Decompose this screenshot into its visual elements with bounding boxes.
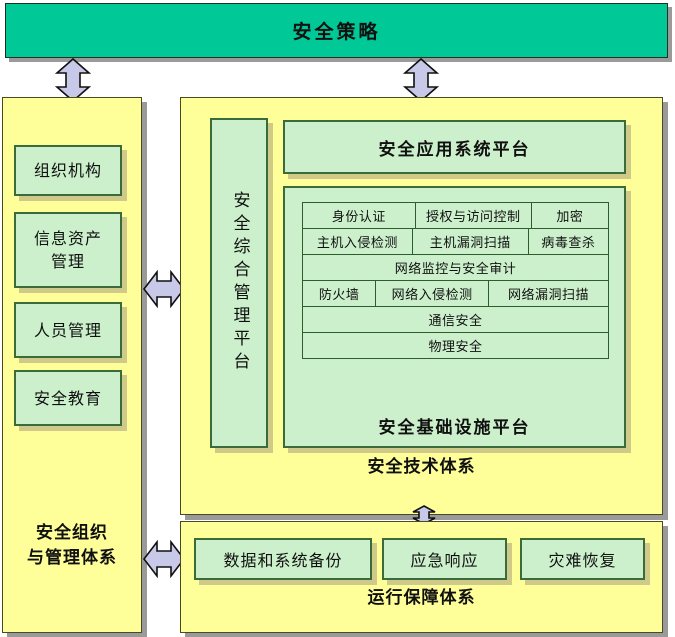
box-information-asset-management-label: 信息资产管理 [34, 227, 102, 273]
infrastructure-capability-grid: 身份认证授权与访问控制加密主机入侵检测主机漏洞扫描病毒查杀网络监控与安全审计防火… [302, 202, 609, 359]
infrastructure-platform-label: 安全基础设施平台 [285, 413, 624, 438]
capability-cell[interactable]: 授权与访问控制 [416, 203, 532, 228]
box-emergency-response-label: 应急响应 [410, 547, 478, 571]
policy-to-technology-arrow [403, 58, 439, 102]
security-policy-banner: 安全策略 [5, 3, 668, 58]
box-integrated-security-management-platform[interactable]: 安全综合管理平台 [210, 118, 268, 448]
capability-row: 网络监控与安全审计 [303, 255, 608, 281]
capability-row: 身份认证授权与访问控制加密 [303, 203, 608, 229]
capability-cell[interactable]: 主机入侵检测 [303, 229, 413, 254]
capability-row: 主机入侵检测主机漏洞扫描病毒查杀 [303, 229, 608, 255]
box-data-system-backup-label: 数据和系统备份 [223, 547, 342, 571]
capability-cell[interactable]: 网络漏洞扫描 [489, 281, 608, 306]
box-data-system-backup[interactable]: 数据和系统备份 [194, 538, 372, 580]
box-personnel-management[interactable]: 人员管理 [14, 302, 122, 358]
capability-cell[interactable]: 网络监控与安全审计 [303, 255, 608, 280]
capability-cell[interactable]: 物理安全 [303, 333, 608, 358]
policy-to-organization-arrow [55, 58, 91, 102]
application-platform-label: 安全应用系统平台 [379, 135, 531, 160]
capability-row: 防火墙网络入侵检测网络漏洞扫描 [303, 281, 608, 307]
capability-cell[interactable]: 防火墙 [303, 281, 376, 306]
box-personnel-management-label: 人员管理 [34, 319, 102, 342]
integrated-platform-label: 安全综合管理平台 [231, 191, 248, 375]
box-security-education[interactable]: 安全教育 [14, 370, 122, 426]
operations-assurance-panel-title: 运行保障体系 [180, 586, 663, 611]
left-title-line1: 安全组织 [36, 523, 108, 543]
box-disaster-recovery-label: 灾难恢复 [548, 547, 616, 571]
security-technology-panel-title: 安全技术体系 [180, 455, 663, 480]
box-information-asset-management[interactable]: 信息资产管理 [14, 212, 122, 288]
capability-row: 物理安全 [303, 333, 608, 358]
capability-cell[interactable]: 网络入侵检测 [376, 281, 489, 306]
box-security-infrastructure-platform[interactable]: 身份认证授权与访问控制加密主机入侵检测主机漏洞扫描病毒查杀网络监控与安全审计防火… [283, 186, 626, 448]
left-title-line2: 与管理体系 [27, 548, 117, 568]
organization-to-operations-arrow [143, 540, 185, 578]
capability-cell[interactable]: 通信安全 [303, 307, 608, 332]
capability-cell[interactable]: 病毒查杀 [529, 229, 608, 254]
asset-label-line2: 管理 [51, 252, 85, 271]
box-organization-structure-label: 组织机构 [34, 159, 102, 182]
security-policy-title: 安全策略 [292, 17, 380, 44]
box-organization-structure[interactable]: 组织机构 [14, 145, 122, 196]
capability-cell[interactable]: 主机漏洞扫描 [413, 229, 529, 254]
capability-row: 通信安全 [303, 307, 608, 333]
box-security-education-label: 安全教育 [34, 387, 102, 410]
box-security-application-platform[interactable]: 安全应用系统平台 [283, 120, 626, 174]
asset-label-line1: 信息资产 [34, 229, 102, 248]
capability-cell[interactable]: 加密 [532, 203, 608, 228]
box-emergency-response[interactable]: 应急响应 [382, 538, 507, 580]
organization-to-technology-arrow [143, 270, 185, 308]
organization-management-panel-title: 安全组织 与管理体系 [2, 521, 142, 571]
capability-cell[interactable]: 身份认证 [303, 203, 416, 228]
box-disaster-recovery[interactable]: 灾难恢复 [520, 538, 645, 580]
